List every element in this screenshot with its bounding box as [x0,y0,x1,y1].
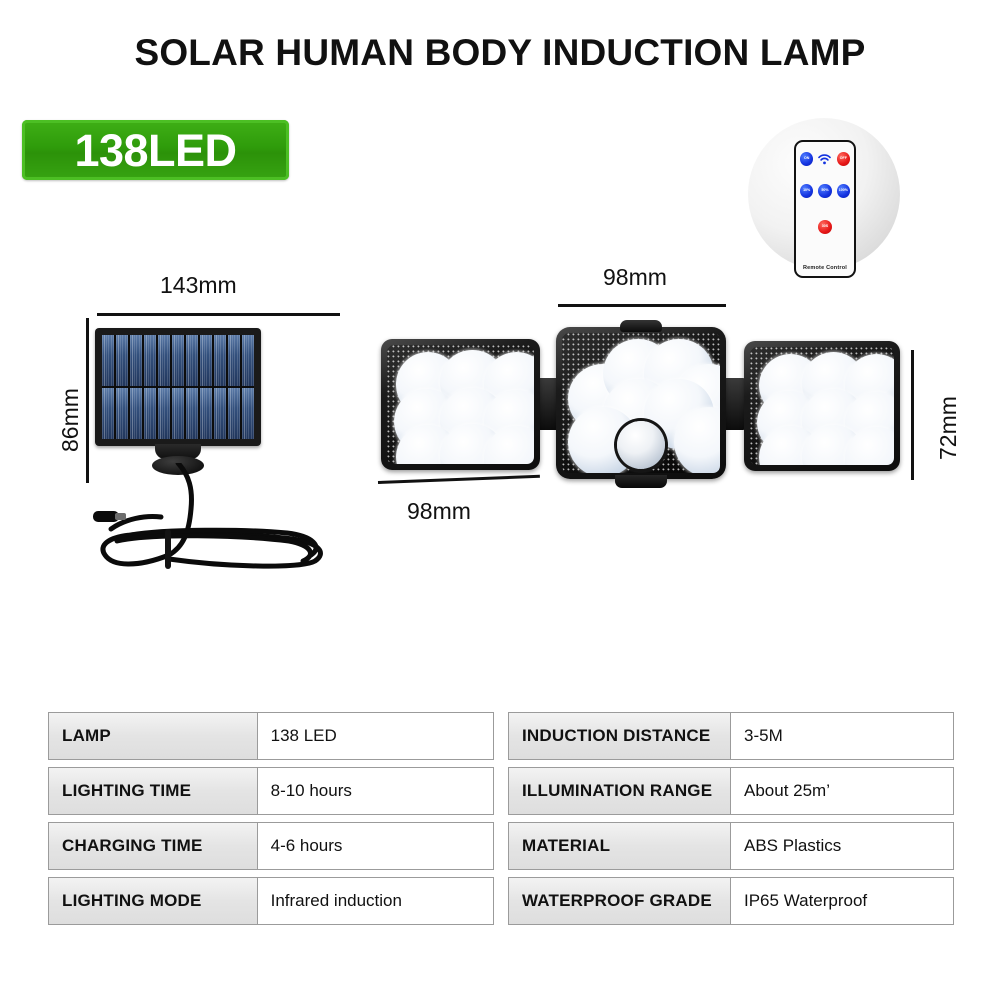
remote-timer-button[interactable]: 30S [818,220,832,234]
table-row: CHARGING TIME 4-6 hours [48,822,494,870]
dimension-line-head-height [911,350,914,480]
table-row: INDUCTION DISTANCE 3-5M [508,712,954,760]
lamp-head-left [381,339,540,470]
lamp-head-right [744,341,900,471]
spec-column-left: LAMP 138 LED LIGHTING TIME 8-10 hours CH… [48,712,494,932]
spec-key: CHARGING TIME [48,822,258,870]
wifi-icon [818,152,831,166]
solar-cell [130,388,142,439]
spec-key: MATERIAL [508,822,731,870]
led-count-badge-label: 138LED [74,128,236,173]
table-row: LIGHTING MODE Infrared induction [48,877,494,925]
led-count-badge: 138LED [22,120,289,180]
table-row: WATERPROOF GRADE IP65 Waterproof [508,877,954,925]
page-title: SOLAR HUMAN BODY INDUCTION LAMP [0,32,1000,74]
solar-cell-grid [102,335,254,439]
remote-row-timer: 30S [800,220,850,234]
table-row: ILLUMINATION RANGE About 25m’ [508,767,954,815]
solar-cell [102,388,114,439]
power-cable [65,463,355,593]
spec-value: ABS Plastics [731,822,954,870]
dimension-label-panel-height: 86mm [57,388,84,452]
spec-key: LIGHTING MODE [48,877,258,925]
solar-cell [172,335,184,386]
spec-key: LIGHTING TIME [48,767,258,815]
spec-value: 4-6 hours [258,822,494,870]
dimension-line-panel-width [97,313,340,316]
remote-on-button[interactable]: ON [800,152,813,166]
solar-cell [214,388,226,439]
spec-value: About 25m’ [731,767,954,815]
solar-cell [144,335,156,386]
lamp-head-center-top-nub [620,320,662,332]
specification-table: LAMP 138 LED LIGHTING TIME 8-10 hours CH… [48,712,954,932]
lamp-face-right [750,347,894,465]
lamp-face-left [387,345,534,464]
spec-key: INDUCTION DISTANCE [508,712,731,760]
spec-value: 138 LED [258,712,494,760]
table-row: MATERIAL ABS Plastics [508,822,954,870]
dimension-line-head-width-bottom [378,475,540,484]
remote-row-power: ON OFF [800,152,850,166]
dimension-label-head-width-top: 98mm [603,264,667,291]
spec-value: IP65 Waterproof [731,877,954,925]
dimension-line-panel-height [86,318,89,483]
solar-cell [158,335,170,386]
solar-cell [116,388,128,439]
lamp-head-center [556,327,726,479]
solar-cell [186,388,198,439]
spec-key: LAMP [48,712,258,760]
dimension-line-head-width-top [558,304,726,307]
table-row: LIGHTING TIME 8-10 hours [48,767,494,815]
solar-cell [228,335,240,386]
spec-value: 8-10 hours [258,767,494,815]
remote-control-label: Remote Control [796,265,854,271]
solar-panel-illustration [95,328,345,628]
solar-cell [228,388,240,439]
hinge-right [723,378,746,430]
solar-cell [102,335,114,386]
solar-cell [186,335,198,386]
spec-key: ILLUMINATION RANGE [508,767,731,815]
solar-cell [158,388,170,439]
remote-dim-1-button[interactable]: 10% [800,184,813,198]
solar-cell [242,335,254,386]
remote-control-body: ON OFF 10% 50% 100% 30S Remote Control [794,140,856,278]
solar-cell [116,335,128,386]
dimension-label-head-width-bottom: 98mm [407,498,471,525]
remote-row-dimming: 10% 50% 100% [800,184,850,198]
spec-value: Infrared induction [258,877,494,925]
solar-cell [242,388,254,439]
spec-value: 3-5M [731,712,954,760]
solar-cell [200,388,212,439]
solar-panel [95,328,261,446]
lamp-face-center [562,333,720,473]
table-row: LAMP 138 LED [48,712,494,760]
pir-motion-sensor [617,421,665,469]
lamp-head-center-foot [615,475,667,488]
remote-dim-2-button[interactable]: 50% [818,184,831,198]
spec-column-right: INDUCTION DISTANCE 3-5M ILLUMINATION RAN… [508,712,954,932]
solar-cell [144,388,156,439]
dimension-label-head-height: 72mm [935,396,962,460]
remote-control-illustration: ON OFF 10% 50% 100% 30S Remote Control [748,118,900,280]
solar-cell [214,335,226,386]
solar-cell [200,335,212,386]
spec-key: WATERPROOF GRADE [508,877,731,925]
solar-cell [130,335,142,386]
remote-dim-3-button[interactable]: 100% [837,184,850,198]
dimension-label-panel-width: 143mm [160,272,237,299]
remote-off-button[interactable]: OFF [837,152,850,166]
solar-cell [172,388,184,439]
